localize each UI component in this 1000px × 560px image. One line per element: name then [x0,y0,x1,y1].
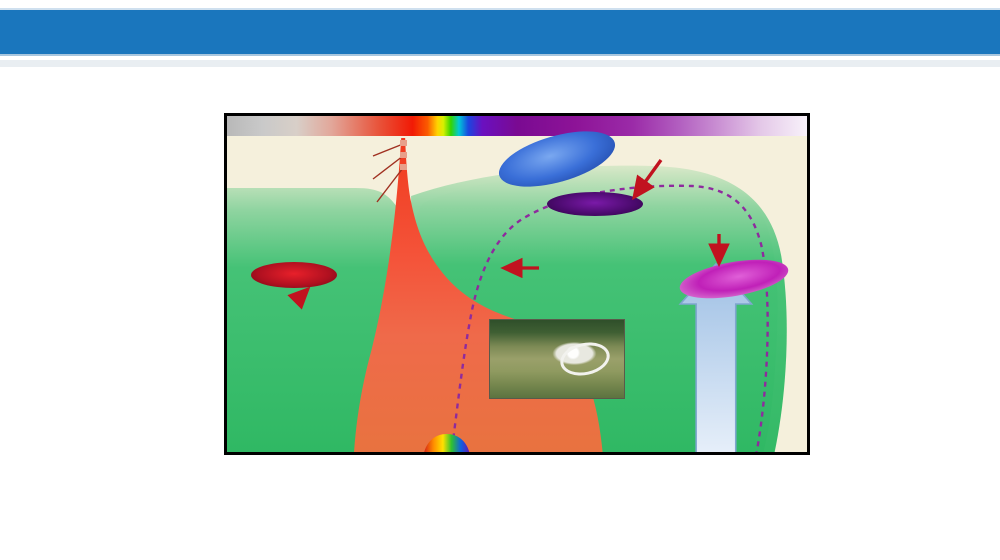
synchrotron-photo [489,319,625,399]
title-underline [0,60,1000,67]
source-label-thz[interactable] [251,262,337,288]
plot-area [224,113,810,455]
title-bar [0,8,1000,56]
source-label-shhg[interactable] [547,192,643,216]
y-axis-title [68,155,69,415]
spectrum-bar [227,116,807,136]
chart-figure [0,70,1000,560]
